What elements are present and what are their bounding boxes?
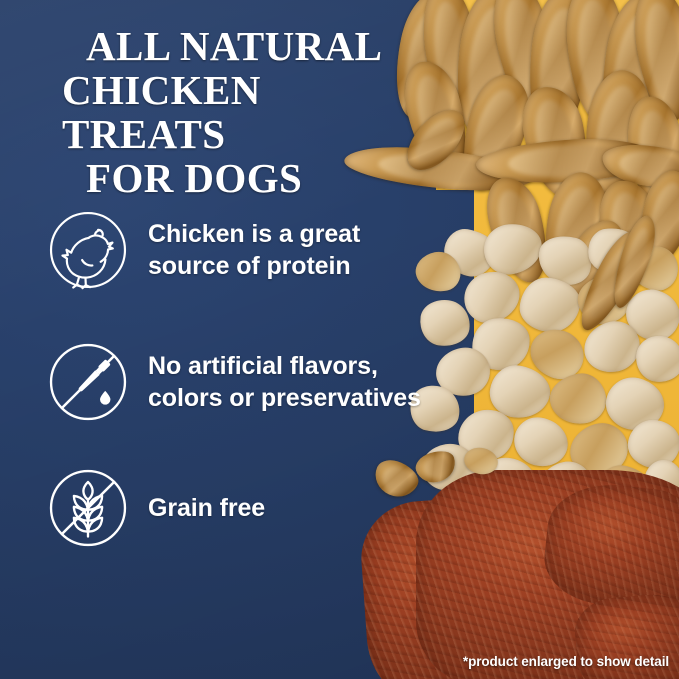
product-infographic: ALL NATURAL CHICKEN TREATS FOR DOGS Chic…	[0, 0, 679, 679]
headline-line-3: FOR DOGS	[86, 156, 416, 200]
product-photo	[380, 0, 679, 679]
disclaimer-text: *product enlarged to show detail	[463, 654, 669, 669]
headline-line-1: ALL NATURAL	[86, 24, 416, 68]
feature-label-protein: Chicken is a great source of protein	[148, 218, 360, 282]
feature-item-grain-free: Grain free	[46, 466, 265, 550]
feature-label-grain-free: Grain free	[148, 492, 265, 524]
feature-label-no-artificial: No artificial flavors, colors or preserv…	[148, 350, 421, 414]
feature-item-no-artificial: No artificial flavors, colors or preserv…	[46, 340, 421, 424]
feature-item-protein: Chicken is a great source of protein	[46, 208, 360, 292]
page-title: ALL NATURAL CHICKEN TREATS FOR DOGS	[86, 24, 416, 200]
no-dropper-icon	[46, 340, 130, 424]
headline-line-2: CHICKEN TREATS	[62, 68, 416, 156]
no-grain-icon	[46, 466, 130, 550]
chicken-icon	[46, 208, 130, 292]
